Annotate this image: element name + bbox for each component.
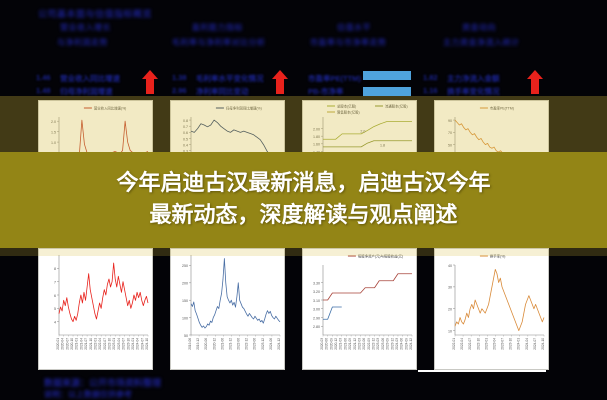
metric-label-3: 毛利率水平变化情况 [196, 73, 264, 84]
svg-text:0.4: 0.4 [183, 143, 188, 147]
svg-text:2024-09: 2024-09 [404, 338, 408, 350]
svg-text:2022-04: 2022-04 [460, 338, 464, 350]
svg-text:2021-12: 2021-12 [353, 338, 357, 350]
svg-text:70: 70 [448, 131, 452, 135]
svg-text:50: 50 [448, 143, 452, 147]
metric-value-6: 1.82 [423, 73, 438, 82]
svg-text:2022-10: 2022-10 [476, 338, 480, 350]
metric-value-7: 1.16 [423, 86, 438, 95]
svg-text:2023-04: 2023-04 [117, 338, 121, 350]
chart-panel-7[interactable]: 2.802.903.003.103.203.30每股净资产(元)与每股收益(元)… [302, 248, 417, 370]
svg-text:1.0: 1.0 [51, 141, 56, 145]
svg-text:2023-12: 2023-12 [261, 338, 265, 350]
svg-text:2023-07: 2023-07 [122, 338, 126, 350]
footer-divider [418, 370, 546, 372]
header-col3-subheading: 市盈率与市净率走势 [310, 37, 387, 48]
svg-text:7: 7 [54, 280, 56, 284]
svg-text:2.0: 2.0 [360, 130, 365, 134]
svg-text:2023-06: 2023-06 [381, 338, 385, 350]
svg-text:2024-04: 2024-04 [525, 338, 529, 350]
svg-text:2024-06: 2024-06 [400, 338, 404, 350]
svg-text:1.80: 1.80 [313, 135, 320, 139]
chart-panel-6[interactable]: 501001502002502019-062019-122020-062020-… [170, 248, 285, 370]
svg-text:2.00: 2.00 [313, 127, 320, 131]
svg-text:2022-06: 2022-06 [362, 338, 366, 350]
header-region: 公司基本面与估值指标概览 营业收入增长 与净利润走势 盈利能力指标 毛利率与净利… [0, 0, 607, 95]
svg-text:2024-01: 2024-01 [517, 338, 521, 350]
svg-text:250: 250 [182, 264, 188, 268]
svg-text:2020-06: 2020-06 [325, 338, 329, 350]
metric-value-1: 1.46 [36, 73, 51, 82]
footer-line-2: 说明：以上数据仅供参考 [44, 389, 132, 400]
svg-text:2020-03: 2020-03 [320, 338, 324, 350]
header-col4-heading: 资金动向 [462, 22, 496, 33]
metric-label-6: 主力净流入金额 [447, 73, 500, 84]
metric-label-7: 换手率变化情况 [447, 86, 500, 97]
svg-text:6: 6 [54, 294, 56, 298]
svg-text:2023-10: 2023-10 [509, 338, 513, 350]
svg-text:2022-12: 2022-12 [245, 338, 249, 350]
svg-text:2024-10: 2024-10 [541, 338, 545, 350]
overlay-line-2: 最新动态，深度解读与观点阐述 [149, 200, 457, 232]
overlay-line-1: 今年启迪古汉最新消息，启迪古汉今年 [116, 168, 490, 200]
svg-text:2024-04: 2024-04 [136, 338, 140, 350]
blue-bar-icon [363, 87, 411, 96]
svg-text:1.5: 1.5 [51, 130, 56, 134]
svg-text:2021-12: 2021-12 [228, 338, 232, 350]
svg-text:2021-06: 2021-06 [343, 338, 347, 350]
svg-text:40: 40 [448, 264, 452, 268]
svg-text:营业收入同比增速(%): 营业收入同比增速(%) [94, 106, 126, 111]
svg-text:2021-10: 2021-10 [89, 338, 93, 350]
svg-text:流通股本(亿股): 流通股本(亿股) [385, 104, 408, 109]
svg-text:2022-01: 2022-01 [452, 338, 456, 350]
svg-text:2022-03: 2022-03 [357, 338, 361, 350]
svg-text:2023-03: 2023-03 [376, 338, 380, 350]
metric-value-5: 市盈率PE(TTM) [308, 73, 361, 84]
svg-text:50: 50 [184, 334, 188, 338]
svg-text:1.8: 1.8 [380, 143, 385, 147]
svg-text:2023-01: 2023-01 [112, 338, 116, 350]
svg-text:2024-03: 2024-03 [395, 338, 399, 350]
metric-label-4: 净利率同比变动 [196, 86, 249, 97]
svg-text:200: 200 [182, 282, 188, 286]
svg-text:2022-06: 2022-06 [237, 338, 241, 350]
svg-text:2022-07: 2022-07 [468, 338, 472, 350]
svg-text:2021-01: 2021-01 [75, 338, 79, 350]
metric-value-2: 1.48 [36, 86, 51, 95]
svg-text:3.30: 3.30 [313, 281, 320, 285]
svg-text:2023-04: 2023-04 [492, 338, 496, 350]
svg-text:2021-04: 2021-04 [79, 338, 83, 350]
overlay-banner-text: 今年启迪古汉最新消息，启迪古汉今年 最新动态，深度解读与观点阐述 [0, 152, 607, 248]
svg-text:2020-10: 2020-10 [70, 338, 74, 350]
svg-text:8: 8 [54, 267, 56, 271]
svg-text:2022-10: 2022-10 [108, 338, 112, 350]
metric-label-5: PB-市净率 [308, 86, 343, 97]
svg-text:2020-06: 2020-06 [204, 338, 208, 350]
svg-text:3.10: 3.10 [313, 299, 320, 303]
svg-text:1.60: 1.60 [313, 143, 320, 147]
svg-text:2.90: 2.90 [313, 316, 320, 320]
svg-text:0.5: 0.5 [183, 137, 188, 141]
svg-text:2020-01: 2020-01 [56, 338, 60, 350]
svg-text:100: 100 [182, 316, 188, 320]
svg-text:2023-12: 2023-12 [390, 338, 394, 350]
svg-text:3.00: 3.00 [313, 308, 320, 312]
metric-label-2: 归母净利润增速 [60, 86, 113, 97]
svg-text:2019-12: 2019-12 [196, 338, 200, 350]
svg-text:限售股本(亿股): 限售股本(亿股) [337, 110, 360, 115]
svg-text:20: 20 [448, 308, 452, 312]
dashboard-root: 公司基本面与估值指标概览 营业收入增长 与净利润走势 盈利能力指标 毛利率与净利… [0, 0, 607, 400]
svg-text:2024-12: 2024-12 [409, 338, 413, 350]
blue-bar-icon [363, 71, 411, 80]
svg-text:2023-09: 2023-09 [386, 338, 390, 350]
svg-text:每股净资产(元)与每股收益(元): 每股净资产(元)与每股收益(元) [358, 254, 403, 259]
svg-text:2023-10: 2023-10 [126, 338, 130, 350]
header-col1-heading: 营业收入增长 [60, 22, 111, 33]
svg-text:归母净利润同比增速(%): 归母净利润同比增速(%) [226, 106, 262, 111]
svg-text:2020-04: 2020-04 [61, 338, 65, 350]
svg-text:30: 30 [448, 286, 452, 290]
svg-text:2019-06: 2019-06 [188, 338, 192, 350]
svg-text:2022-12: 2022-12 [372, 338, 376, 350]
header-col1-subheading: 与净利润走势 [57, 37, 108, 48]
svg-text:2020-07: 2020-07 [65, 338, 69, 350]
svg-text:3.20: 3.20 [313, 290, 320, 294]
metric-value-4: 2.96 [172, 86, 187, 95]
metric-value-3: 1.38 [172, 73, 187, 82]
svg-text:5: 5 [54, 307, 56, 311]
chart-panel-8[interactable]: 10203040换手率(%)2022-012022-042022-072022-… [434, 248, 549, 370]
svg-text:90: 90 [448, 119, 452, 123]
svg-text:2024-10: 2024-10 [145, 338, 149, 350]
header-col2-subheading: 毛利率与净利率对比分析 [172, 37, 266, 48]
svg-text:2020-09: 2020-09 [329, 338, 333, 350]
svg-text:150: 150 [182, 299, 188, 303]
svg-text:市盈率PE(TTM): 市盈率PE(TTM) [490, 106, 514, 111]
svg-text:2021-03: 2021-03 [339, 338, 343, 350]
svg-text:2024-06: 2024-06 [269, 338, 273, 350]
svg-text:2024-07: 2024-07 [140, 338, 144, 350]
svg-text:2022-01: 2022-01 [93, 338, 97, 350]
svg-text:2020-12: 2020-12 [334, 338, 338, 350]
svg-text:2024-12: 2024-12 [277, 338, 281, 350]
svg-text:0.6: 0.6 [183, 131, 188, 135]
svg-text:0.7: 0.7 [183, 125, 188, 129]
svg-text:2020-12: 2020-12 [212, 338, 216, 350]
footer-line-1: 数据来源：公开市场资料整理 [44, 376, 161, 389]
header-col2-heading: 盈利能力指标 [192, 22, 243, 33]
svg-text:2023-06: 2023-06 [253, 338, 257, 350]
svg-text:2023-07: 2023-07 [501, 338, 505, 350]
svg-text:0.8: 0.8 [183, 119, 188, 123]
metric-label-1: 营业收入同比增速 [60, 73, 120, 84]
svg-text:2021-09: 2021-09 [348, 338, 352, 350]
svg-text:2.80: 2.80 [313, 325, 320, 329]
chart-panel-5[interactable]: 456782020-012020-042020-072020-102021-01… [38, 248, 153, 370]
svg-text:4: 4 [54, 320, 56, 324]
svg-text:换手率(%): 换手率(%) [490, 254, 505, 259]
svg-text:2022-07: 2022-07 [103, 338, 107, 350]
page-title: 公司基本面与估值指标概览 [38, 7, 152, 20]
header-col4-subheading: 主力资金净流入统计 [443, 37, 520, 48]
svg-text:2024-07: 2024-07 [533, 338, 537, 350]
svg-text:2021-07: 2021-07 [84, 338, 88, 350]
svg-text:2023-01: 2023-01 [484, 338, 488, 350]
svg-text:2021-06: 2021-06 [220, 338, 224, 350]
svg-text:10: 10 [448, 329, 452, 333]
svg-text:总股本(亿股): 总股本(亿股) [337, 104, 356, 109]
svg-text:2.0: 2.0 [51, 120, 56, 124]
svg-text:2024-01: 2024-01 [131, 338, 135, 350]
svg-text:2022-04: 2022-04 [98, 338, 102, 350]
svg-text:2022-09: 2022-09 [367, 338, 371, 350]
header-col3-heading: 估值水平 [337, 22, 371, 33]
